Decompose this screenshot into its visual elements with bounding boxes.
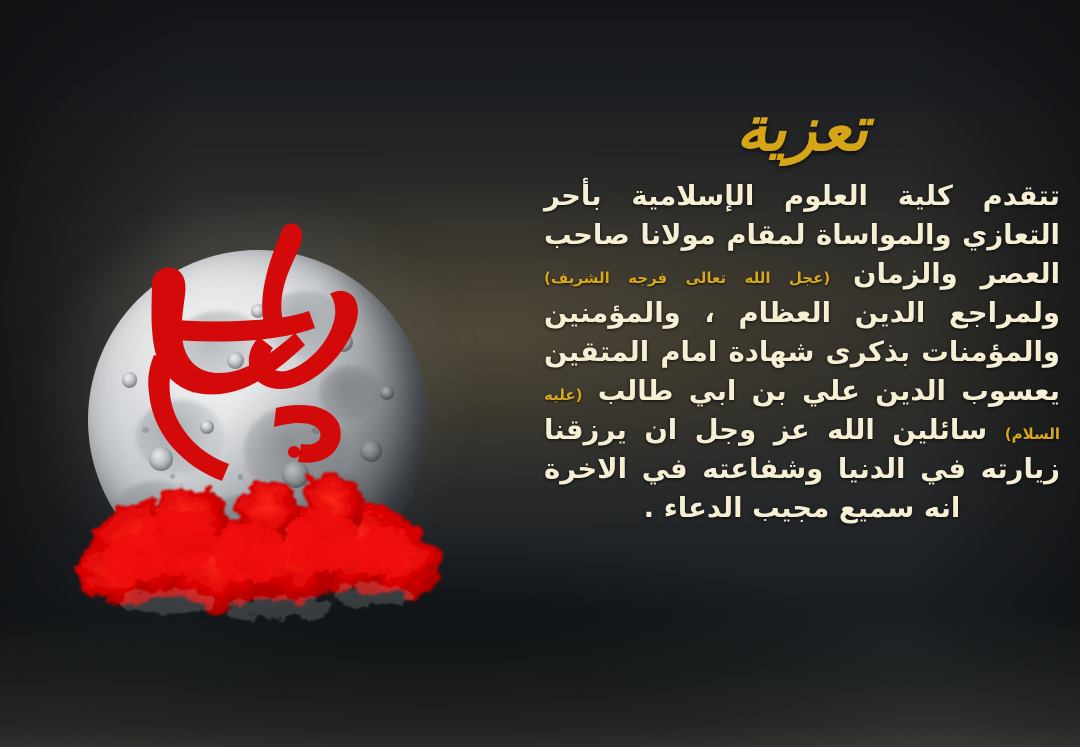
condolence-poster: تعزية تتقدم كلية العلوم الإسلامية بأحر ا… xyxy=(0,0,1080,747)
text-column: تعزية تتقدم كلية العلوم الإسلامية بأحر ا… xyxy=(532,96,1072,529)
body-paragraph-3: سائلين الله عز وجل ان يرزقنا زيارته في ا… xyxy=(544,414,1060,524)
body-paragraph-2: ولمراجع الدين العظام ، والمؤمنين والمؤمن… xyxy=(544,297,1060,407)
honorific-ajjal-allah: (عجل الله تعالى فرجه الشريف) xyxy=(544,269,830,287)
page-title: تعزية xyxy=(532,96,1072,161)
condolence-body: تتقدم كلية العلوم الإسلامية بأحر التعازي… xyxy=(532,177,1072,528)
moon-artwork xyxy=(78,238,438,618)
moon-disc xyxy=(88,250,428,590)
